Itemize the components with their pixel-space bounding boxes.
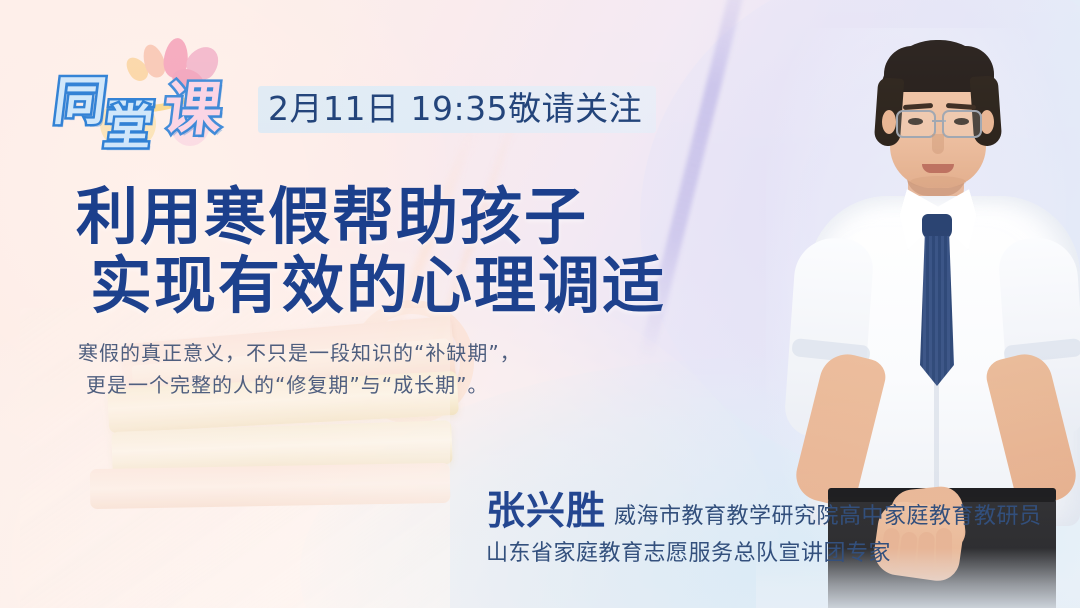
speaker-credit: 张兴胜 威海市教育教学研究院高中家庭教育教研员 山东省家庭教育志愿服务总队宣讲团… [486, 492, 1042, 565]
portrait-nose [932, 134, 944, 154]
subtitle-line-1: 寒假的真正意义，不只是一段知识的“补缺期”， [78, 337, 521, 369]
subtitle: 寒假的真正意义，不只是一段知识的“补缺期”， 更是一个完整的人的“修复期”与“成… [78, 337, 521, 402]
eyeglass-lens-right [942, 110, 982, 138]
poster-canvas: 同 一 堂 课 2月11日 19:35敬请关注 利用寒假帮助孩子 实现有效的心理… [0, 0, 1080, 608]
logo-char-4: 课 [160, 80, 225, 138]
speaker-title: 威海市教育教学研究院高中家庭教育教研员 [614, 506, 1042, 531]
speaker-name-row: 张兴胜 威海市教育教学研究院高中家庭教育教研员 [486, 492, 1042, 531]
speaker-name: 张兴胜 [486, 492, 606, 531]
logo-char-3: 堂 [101, 104, 155, 152]
eyeglasses-icon [896, 110, 982, 136]
logo-characters: 同 一 堂 课 [52, 42, 252, 148]
speaker-organization: 山东省家庭教育志愿服务总队宣讲团专家 [486, 543, 1042, 565]
portrait-necktie [920, 236, 954, 386]
portrait-mouth [922, 164, 954, 173]
headline-line-2: 实现有效的心理调适 [76, 251, 666, 320]
portrait-chin-shadow [910, 176, 966, 188]
portrait-ear-right [980, 110, 994, 134]
broadcast-banner: 2月11日 19:35敬请关注 [258, 86, 656, 133]
eyeglass-lens-left [896, 110, 936, 138]
page-title: 利用寒假帮助孩子 实现有效的心理调适 [76, 182, 666, 321]
headline-line-1: 利用寒假帮助孩子 [76, 182, 666, 251]
subtitle-line-2: 更是一个完整的人的“修复期”与“成长期”。 [78, 369, 521, 401]
logo-char-1: 同 [51, 76, 109, 128]
portrait-ear-left [882, 110, 896, 134]
broadcast-banner-text: 2月11日 19:35敬请关注 [268, 92, 642, 125]
program-logo: 同 一 堂 课 [52, 42, 252, 148]
